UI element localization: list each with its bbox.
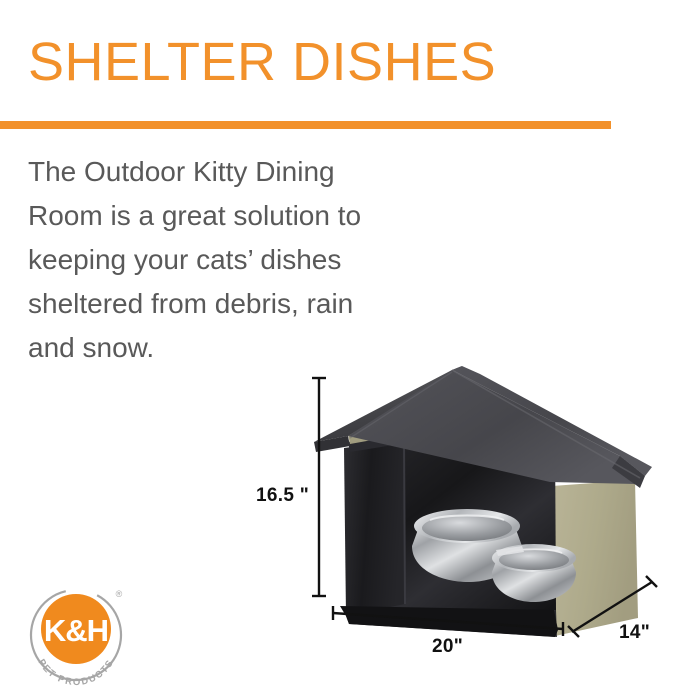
logo-registered-mark: ® xyxy=(116,589,123,599)
brand-logo: K&H ® PET PRODUCTS xyxy=(18,585,148,690)
slide-canvas: SHELTER DISHES The Outdoor Kitty Dining … xyxy=(0,0,700,700)
page-title: SHELTER DISHES xyxy=(28,32,496,92)
dimension-label-depth: 14" xyxy=(619,622,650,644)
dimension-line-height xyxy=(312,378,326,596)
brand-logo-svg: K&H ® PET PRODUCTS xyxy=(18,585,148,690)
dimension-label-height: 16.5 " xyxy=(256,485,309,507)
title-divider-rule xyxy=(0,121,611,129)
dimension-label-width: 20" xyxy=(432,636,463,658)
product-left-wall xyxy=(344,440,405,616)
description-paragraph: The Outdoor Kitty Dining Room is a great… xyxy=(28,150,378,370)
left-wall-edge xyxy=(404,440,405,604)
logo-wordmark: K&H xyxy=(44,613,108,648)
